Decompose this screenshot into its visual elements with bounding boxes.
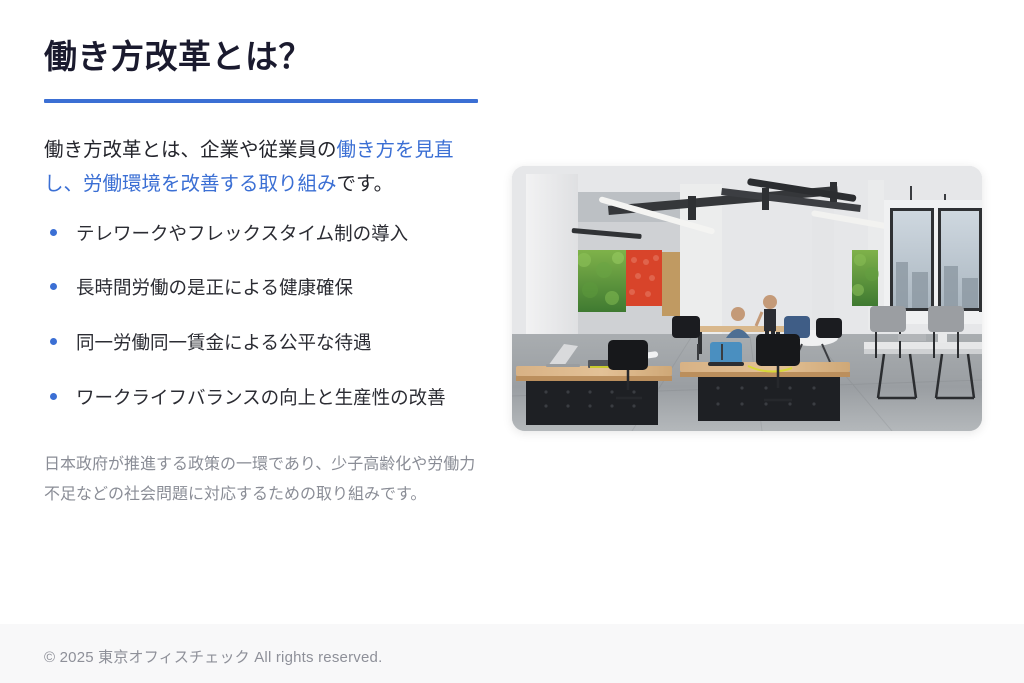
page-title: 働き方改革とは？ [44, 36, 484, 99]
list-item-label: 同一労働同一賃金による公平な待遇 [76, 332, 371, 353]
text-column: 働き方改革とは？ 働き方改革とは、企業や従業員の働き方を見直し、労働環境を改善す… [44, 36, 484, 509]
list-item: ワークライフバランスの向上と生産性の改善 [44, 384, 474, 413]
slide-content: 働き方改革とは？ 働き方改革とは、企業や従業員の働き方を見直し、労働環境を改善す… [0, 0, 1024, 624]
feature-bullet-list: テレワークやフレックスタイム制の導入 長時間労働の是正による健康確保 同一労働同… [44, 220, 474, 413]
footer-copyright: © 2025 東京オフィスチェック All rights reserved. [44, 646, 382, 667]
list-item: 長時間労働の是正による健康確保 [44, 274, 474, 303]
office-photo [512, 166, 982, 431]
list-item-label: ワークライフバランスの向上と生産性の改善 [76, 387, 446, 408]
lead-paragraph: 働き方改革とは、企業や従業員の働き方を見直し、労働環境を改善する取り組みです。 [44, 133, 480, 201]
bullet-dot-icon [50, 283, 57, 290]
lead-text-part1: 働き方改革とは、企業や従業員の [44, 139, 337, 161]
footer-bar: © 2025 東京オフィスチェック All rights reserved. [0, 624, 1024, 683]
bullet-dot-icon [50, 338, 57, 345]
list-item: 同一労働同一賃金による公平な待遇 [44, 329, 474, 358]
supplementary-note: 日本政府が推進する政策の一環であり、少子高齢化や労働力不足などの社会問題に対応す… [44, 450, 476, 509]
title-underline-rule [44, 99, 478, 103]
list-item-label: 長時間労働の是正による健康確保 [76, 277, 353, 298]
office-photo-illustration [512, 166, 982, 431]
bullet-dot-icon [50, 393, 57, 400]
list-item-label: テレワークやフレックスタイム制の導入 [76, 223, 408, 244]
lead-text-part2: です。 [337, 173, 394, 195]
list-item: テレワークやフレックスタイム制の導入 [44, 220, 474, 249]
slide-root: 働き方改革とは？ 働き方改革とは、企業や従業員の働き方を見直し、労働環境を改善す… [0, 0, 1024, 683]
bullet-dot-icon [50, 229, 57, 236]
